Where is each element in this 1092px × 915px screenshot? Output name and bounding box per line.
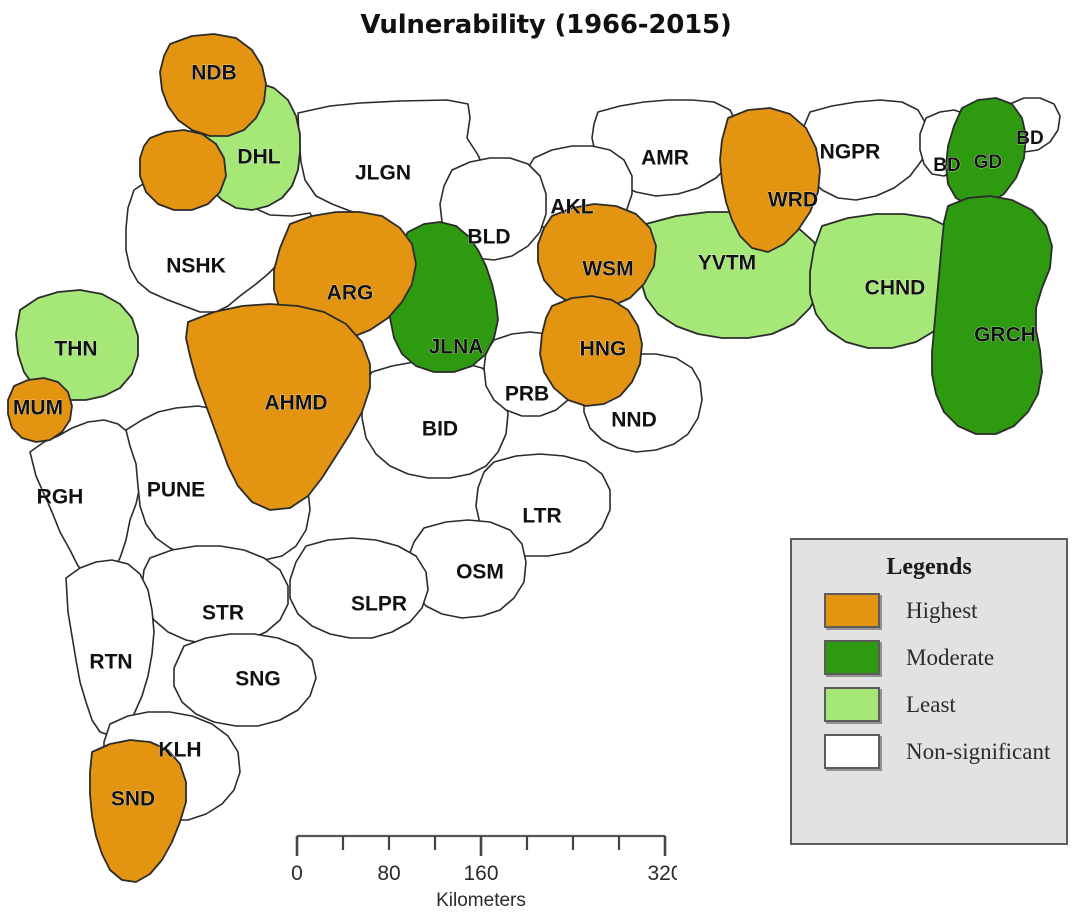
district-label-CHND: CHND — [865, 277, 926, 300]
district-label-DHL: DHL — [237, 146, 280, 169]
district-label-SLPR: SLPR — [351, 593, 407, 616]
district-STR[interactable] — [142, 546, 288, 644]
scalebar-unit-label: Kilometers — [436, 890, 526, 911]
legend-label-least: Least — [906, 692, 956, 718]
legend-swatch-moderate — [824, 640, 880, 675]
district-label-NDB: NDB — [191, 62, 237, 85]
scalebar-label-160: 160 — [463, 862, 498, 885]
legend-label-non-significant: Non-significant — [906, 739, 1050, 765]
district-label-MUM: MUM — [13, 397, 63, 420]
scale-bar: 0 80 160 320 Kilometers — [285, 826, 677, 912]
district-label-JLNA: JLNA — [429, 336, 484, 359]
scalebar-label-320: 320 — [647, 862, 677, 885]
district-label-NND: NND — [611, 409, 657, 432]
district-label-SNG: SNG — [235, 668, 281, 691]
district-label-AHMD: AHMD — [265, 392, 328, 415]
district-label-ARG: ARG — [327, 282, 374, 305]
district-RTN[interactable] — [66, 560, 154, 736]
legend-item-least[interactable]: Least — [792, 687, 1066, 722]
district-GRCH[interactable] — [932, 196, 1052, 434]
district-label-JLGN: JLGN — [355, 162, 411, 185]
district-label-WSM: WSM — [582, 258, 633, 281]
district-label-RGH: RGH — [37, 486, 84, 509]
district-label-BD-west: BD — [933, 155, 960, 176]
legend-item-highest[interactable]: Highest — [792, 593, 1066, 628]
district-label-PRB: PRB — [505, 383, 549, 406]
scalebar-label-0: 0 — [291, 862, 303, 885]
district-WSM[interactable] — [538, 204, 656, 308]
legend-label-moderate: Moderate — [906, 645, 994, 671]
district-label-AMR: AMR — [641, 147, 689, 170]
legend-label-highest: Highest — [906, 598, 978, 624]
district-label-LTR: LTR — [522, 505, 561, 528]
district-label-PUNE: PUNE — [147, 479, 205, 502]
legend-item-non-significant[interactable]: Non-significant — [792, 734, 1066, 769]
district-SLPR[interactable] — [290, 538, 428, 638]
map-figure: Vulnerability (1966-2015) — [0, 0, 1092, 915]
district-label-KLH: KLH — [158, 739, 201, 762]
district-label-BD-east: BD — [1016, 128, 1043, 149]
district-label-HNG: HNG — [580, 338, 627, 361]
district-label-BID: BID — [422, 418, 458, 441]
district-label-RTN: RTN — [89, 651, 132, 674]
legend-swatch-non-significant — [824, 734, 880, 769]
district-label-OSM: OSM — [456, 561, 504, 584]
legend-title: Legends — [792, 554, 1066, 581]
legend-swatch-least — [824, 687, 880, 722]
legend-item-moderate[interactable]: Moderate — [792, 640, 1066, 675]
district-label-NGPR: NGPR — [820, 141, 881, 164]
district-label-THN: THN — [54, 338, 97, 361]
district-label-GRCH: GRCH — [974, 324, 1036, 347]
district-label-NSHK: NSHK — [166, 255, 226, 278]
legend-swatch-highest — [824, 593, 880, 628]
legend-panel: Legends Highest Moderate Least Non-signi… — [790, 538, 1068, 845]
district-label-GD: GD — [974, 152, 1003, 173]
district-label-WRD-top: WRD — [768, 189, 818, 212]
district-label-STR: STR — [202, 602, 244, 625]
district-label-SND: SND — [111, 788, 155, 811]
district-label-YVTM: YVTM — [698, 252, 756, 275]
scalebar-label-80: 80 — [377, 862, 400, 885]
district-label-AKL: AKL — [550, 196, 593, 219]
district-label-BLD: BLD — [467, 226, 510, 249]
